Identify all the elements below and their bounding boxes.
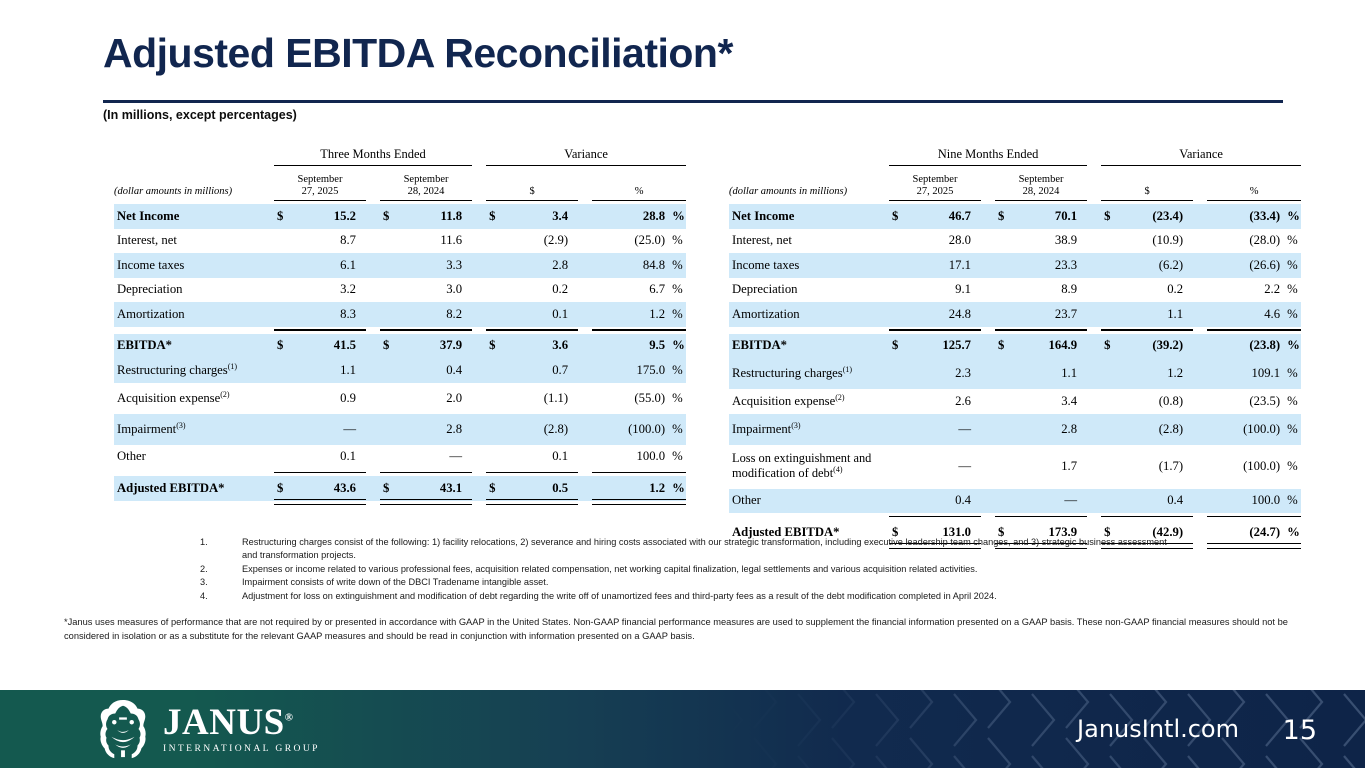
value-prior-period: 2.8 bbox=[1013, 414, 1087, 445]
value-current-period: 43.6 bbox=[292, 476, 366, 501]
three-months-header-group: Three Months Ended Variance (dollar amou… bbox=[114, 146, 686, 204]
spacer bbox=[981, 204, 995, 229]
currency-symbol bbox=[995, 253, 1013, 278]
value-variance-percent: (55.0) bbox=[592, 383, 668, 414]
value-current-period: 8.3 bbox=[292, 302, 366, 327]
value-prior-period: 38.9 bbox=[1013, 229, 1087, 254]
page-number: 15 bbox=[1283, 715, 1317, 746]
spacer bbox=[981, 229, 995, 254]
value-current-period: 2.3 bbox=[907, 358, 981, 389]
value-variance-percent: (100.0) bbox=[1207, 414, 1283, 445]
value-prior-period: 8.9 bbox=[1013, 278, 1087, 303]
percent-symbol: % bbox=[668, 358, 686, 383]
spacer bbox=[981, 334, 995, 359]
value-current-period: — bbox=[907, 414, 981, 445]
spacer bbox=[366, 204, 380, 229]
value-variance-percent: 2.2 bbox=[1207, 278, 1283, 303]
footnote-number: 3. bbox=[200, 576, 242, 589]
currency-symbol: $ bbox=[380, 204, 398, 229]
value-variance-percent: 6.7 bbox=[592, 278, 668, 303]
currency-symbol bbox=[1101, 229, 1119, 254]
spacer bbox=[981, 489, 995, 514]
spacer bbox=[366, 334, 380, 359]
group-header-row: Nine Months Ended Variance bbox=[729, 146, 1301, 162]
footnote-number: 2. bbox=[200, 563, 242, 576]
percent-symbol: % bbox=[668, 229, 686, 254]
subtotal-rule-row bbox=[114, 469, 686, 476]
percent-symbol: % bbox=[1283, 253, 1301, 278]
value-variance-percent: (100.0) bbox=[592, 414, 668, 445]
value-variance-dollar: 0.4 bbox=[1119, 489, 1193, 514]
spacer bbox=[578, 302, 592, 327]
percent-symbol: % bbox=[1283, 278, 1301, 303]
row-label: EBITDA* bbox=[729, 334, 889, 359]
value-prior-period: 164.9 bbox=[1013, 334, 1087, 359]
currency-symbol bbox=[1101, 489, 1119, 514]
logo-registered-mark: ® bbox=[285, 712, 294, 724]
spacer bbox=[366, 358, 380, 383]
currency-symbol bbox=[889, 489, 907, 514]
spacer bbox=[1087, 278, 1101, 303]
value-current-period: 0.1 bbox=[292, 445, 366, 470]
currency-symbol bbox=[995, 229, 1013, 254]
spacer bbox=[1193, 204, 1207, 229]
percent-symbol: % bbox=[1283, 520, 1301, 545]
group-header-rule-row bbox=[114, 162, 686, 169]
currency-symbol bbox=[380, 229, 398, 254]
currency-symbol bbox=[889, 445, 907, 489]
footnote-item: 3.Impairment consists of write down of t… bbox=[200, 576, 1180, 589]
footnote-item: 4.Adjustment for loss on extinguishment … bbox=[200, 590, 1180, 603]
value-variance-dollar: (1.7) bbox=[1119, 445, 1193, 489]
value-current-period: 3.2 bbox=[292, 278, 366, 303]
table-row: Depreciation3.23.00.26.7% bbox=[114, 278, 686, 303]
row-label: Net Income bbox=[114, 204, 274, 229]
value-prior-period: 8.2 bbox=[398, 302, 472, 327]
row-label: Adjusted EBITDA* bbox=[114, 476, 274, 501]
currency-symbol bbox=[889, 389, 907, 414]
col2-line2: 28, 2024 bbox=[408, 186, 445, 197]
col1-line2: 27, 2025 bbox=[302, 186, 339, 197]
spacer bbox=[578, 204, 592, 229]
value-prior-period: — bbox=[1013, 489, 1087, 514]
currency-symbol bbox=[995, 389, 1013, 414]
currency-symbol bbox=[889, 253, 907, 278]
logo-name-text: JANUS bbox=[163, 702, 285, 743]
value-current-period: 28.0 bbox=[907, 229, 981, 254]
currency-symbol bbox=[1101, 302, 1119, 327]
spacer bbox=[1087, 445, 1101, 489]
currency-symbol bbox=[380, 278, 398, 303]
currency-symbol bbox=[995, 445, 1013, 489]
currency-symbol bbox=[380, 383, 398, 414]
currency-symbol bbox=[380, 302, 398, 327]
value-prior-period: 2.0 bbox=[398, 383, 472, 414]
spacer bbox=[366, 253, 380, 278]
spacer bbox=[578, 334, 592, 359]
spacer bbox=[981, 445, 995, 489]
currency-symbol bbox=[274, 445, 292, 470]
value-current-period: 17.1 bbox=[907, 253, 981, 278]
value-current-period: 9.1 bbox=[907, 278, 981, 303]
currency-symbol: $ bbox=[1101, 204, 1119, 229]
spacer bbox=[1193, 389, 1207, 414]
value-variance-percent: (100.0) bbox=[1207, 445, 1283, 489]
subtotal-rule-row bbox=[729, 513, 1301, 520]
currency-symbol bbox=[380, 253, 398, 278]
currency-symbol bbox=[1101, 389, 1119, 414]
table-row: Loss on extinguishment and modification … bbox=[729, 445, 1301, 489]
value-variance-dollar: 1.1 bbox=[1119, 302, 1193, 327]
row-label: Interest, net bbox=[114, 229, 274, 254]
table-row: EBITDA*$41.5$37.9$3.69.5% bbox=[114, 334, 686, 359]
currency-symbol bbox=[380, 414, 398, 445]
spacer bbox=[366, 302, 380, 327]
value-prior-period: 43.1 bbox=[398, 476, 472, 501]
footnote-item: 2.Expenses or income related to various … bbox=[200, 563, 1180, 576]
table-row: Adjusted EBITDA*$43.6$43.1$0.51.2% bbox=[114, 476, 686, 501]
value-variance-dollar: 2.8 bbox=[504, 253, 578, 278]
row-label: Acquisition expense(2) bbox=[114, 383, 274, 414]
column-header-variance-percent: % bbox=[1207, 169, 1301, 197]
spacer bbox=[366, 229, 380, 254]
label-column-header: (dollar amounts in millions) bbox=[729, 169, 889, 197]
spacer bbox=[1193, 520, 1207, 545]
value-prior-period: 3.4 bbox=[1013, 389, 1087, 414]
value-prior-period: 2.8 bbox=[398, 414, 472, 445]
value-variance-dollar: 1.2 bbox=[1119, 358, 1193, 389]
table-row: Depreciation9.18.90.22.2% bbox=[729, 278, 1301, 303]
spacer bbox=[1087, 229, 1101, 254]
currency-symbol bbox=[889, 358, 907, 389]
currency-symbol bbox=[889, 278, 907, 303]
currency-symbol bbox=[995, 358, 1013, 389]
footnote-text: Expenses or income related to various pr… bbox=[242, 563, 1180, 576]
row-label: Depreciation bbox=[114, 278, 274, 303]
currency-symbol bbox=[274, 253, 292, 278]
value-variance-dollar: 0.5 bbox=[504, 476, 578, 501]
spacer bbox=[472, 204, 486, 229]
table-row: Amortization8.38.20.11.2% bbox=[114, 302, 686, 327]
spacer bbox=[472, 414, 486, 445]
row-label: Depreciation bbox=[729, 278, 889, 303]
currency-symbol: $ bbox=[1101, 334, 1119, 359]
table-row: Other0.4—0.4100.0% bbox=[729, 489, 1301, 514]
value-variance-percent: (26.6) bbox=[1207, 253, 1283, 278]
spacer bbox=[1193, 302, 1207, 327]
spacer bbox=[1193, 334, 1207, 359]
percent-symbol: % bbox=[668, 383, 686, 414]
value-variance-dollar: (2.9) bbox=[504, 229, 578, 254]
row-label: Income taxes bbox=[114, 253, 274, 278]
value-current-period: 0.4 bbox=[907, 489, 981, 514]
value-variance-percent: (23.5) bbox=[1207, 389, 1283, 414]
row-label: Restructuring charges(1) bbox=[729, 358, 889, 389]
column-header-variance-dollar: $ bbox=[1101, 169, 1193, 197]
column-header-row: (dollar amounts in millions) September 2… bbox=[114, 169, 686, 197]
footnote-text: Restructuring charges consist of the fol… bbox=[242, 536, 1180, 562]
spacer bbox=[1193, 229, 1207, 254]
column-header-rule-row bbox=[729, 197, 1301, 204]
row-label: Restructuring charges(1) bbox=[114, 358, 274, 383]
currency-symbol: $ bbox=[889, 204, 907, 229]
column-header-rule-row bbox=[114, 197, 686, 204]
value-variance-percent: 109.1 bbox=[1207, 358, 1283, 389]
row-label: Impairment(3) bbox=[114, 414, 274, 445]
col2-line2: 28, 2024 bbox=[1023, 186, 1060, 197]
janus-head-icon bbox=[92, 698, 154, 760]
currency-symbol: $ bbox=[995, 204, 1013, 229]
spacer bbox=[472, 383, 486, 414]
value-variance-dollar: 0.1 bbox=[504, 445, 578, 470]
row-label: Loss on extinguishment and modification … bbox=[729, 445, 889, 489]
currency-symbol bbox=[274, 414, 292, 445]
column-header-period-1: September 27, 2025 bbox=[274, 169, 366, 197]
value-variance-dollar: (1.1) bbox=[504, 383, 578, 414]
value-variance-percent: 28.8 bbox=[592, 204, 668, 229]
col1-line2: 27, 2025 bbox=[917, 186, 954, 197]
spacer bbox=[578, 445, 592, 470]
table-row: EBITDA*$125.7$164.9$(39.2)(23.8)% bbox=[729, 334, 1301, 359]
column-header-period-2: September 28, 2024 bbox=[995, 169, 1087, 197]
spacer bbox=[472, 445, 486, 470]
value-variance-percent: 1.2 bbox=[592, 476, 668, 501]
currency-symbol bbox=[995, 414, 1013, 445]
currency-symbol bbox=[486, 358, 504, 383]
row-label: Impairment(3) bbox=[729, 414, 889, 445]
spacer bbox=[578, 476, 592, 501]
column-header-period-1: September 27, 2025 bbox=[889, 169, 981, 197]
percent-symbol: % bbox=[668, 278, 686, 303]
currency-symbol: $ bbox=[889, 334, 907, 359]
currency-symbol bbox=[380, 358, 398, 383]
spacer bbox=[472, 358, 486, 383]
logo-name: JANUS® bbox=[163, 704, 320, 741]
value-prior-period: 23.3 bbox=[1013, 253, 1087, 278]
spacer bbox=[578, 229, 592, 254]
value-variance-percent: 175.0 bbox=[592, 358, 668, 383]
currency-symbol bbox=[274, 358, 292, 383]
value-current-period: 46.7 bbox=[907, 204, 981, 229]
value-current-period: 1.1 bbox=[292, 358, 366, 383]
table-row: Interest, net8.711.6(2.9)(25.0)% bbox=[114, 229, 686, 254]
footnote-text: Impairment consists of write down of the… bbox=[242, 576, 1180, 589]
percent-symbol: % bbox=[668, 445, 686, 470]
spacer bbox=[1087, 204, 1101, 229]
table-row: Restructuring charges(1)2.31.11.2109.1% bbox=[729, 358, 1301, 389]
spacer bbox=[1087, 253, 1101, 278]
spacer bbox=[472, 253, 486, 278]
percent-symbol: % bbox=[668, 253, 686, 278]
value-prior-period: 3.3 bbox=[398, 253, 472, 278]
value-variance-dollar: 0.1 bbox=[504, 302, 578, 327]
spacer bbox=[472, 476, 486, 501]
value-current-period: 2.6 bbox=[907, 389, 981, 414]
column-header-row: (dollar amounts in millions) September 2… bbox=[729, 169, 1301, 197]
percent-symbol: % bbox=[668, 414, 686, 445]
spacer bbox=[366, 445, 380, 470]
percent-symbol: % bbox=[1283, 204, 1301, 229]
value-variance-percent: (28.0) bbox=[1207, 229, 1283, 254]
percent-symbol: % bbox=[668, 334, 686, 359]
value-variance-dollar: (2.8) bbox=[1119, 414, 1193, 445]
spacer bbox=[1193, 445, 1207, 489]
spacer bbox=[1193, 414, 1207, 445]
currency-symbol bbox=[889, 302, 907, 327]
table-row: Net Income$15.2$11.8$3.428.8% bbox=[114, 204, 686, 229]
currency-symbol: $ bbox=[486, 476, 504, 501]
spacer bbox=[578, 253, 592, 278]
currency-symbol bbox=[1101, 253, 1119, 278]
currency-symbol bbox=[486, 383, 504, 414]
currency-symbol bbox=[995, 489, 1013, 514]
value-variance-percent: 1.2 bbox=[592, 302, 668, 327]
footnotes-list: 1.Restructuring charges consist of the f… bbox=[200, 536, 1180, 603]
currency-symbol bbox=[486, 302, 504, 327]
value-current-period: 24.8 bbox=[907, 302, 981, 327]
percent-symbol: % bbox=[1283, 445, 1301, 489]
value-variance-dollar: (2.8) bbox=[504, 414, 578, 445]
row-label: Acquisition expense(2) bbox=[729, 389, 889, 414]
row-label: Net Income bbox=[729, 204, 889, 229]
nine-months-table: Nine Months Ended Variance (dollar amoun… bbox=[729, 146, 1274, 545]
value-variance-dollar: 0.7 bbox=[504, 358, 578, 383]
three-months-table: Three Months Ended Variance (dollar amou… bbox=[114, 146, 636, 501]
value-variance-percent: 84.8 bbox=[592, 253, 668, 278]
spacer bbox=[1193, 489, 1207, 514]
currency-symbol bbox=[995, 278, 1013, 303]
value-prior-period: 11.8 bbox=[398, 204, 472, 229]
percent-symbol: % bbox=[1283, 389, 1301, 414]
currency-symbol bbox=[889, 229, 907, 254]
value-variance-percent: 4.6 bbox=[1207, 302, 1283, 327]
currency-symbol: $ bbox=[274, 334, 292, 359]
value-prior-period: 70.1 bbox=[1013, 204, 1087, 229]
value-variance-percent: 100.0 bbox=[1207, 489, 1283, 514]
spacer bbox=[472, 229, 486, 254]
value-variance-dollar: (39.2) bbox=[1119, 334, 1193, 359]
spacer bbox=[366, 414, 380, 445]
spacer bbox=[578, 358, 592, 383]
table-row: Restructuring charges(1)1.10.40.7175.0% bbox=[114, 358, 686, 383]
currency-symbol: $ bbox=[486, 334, 504, 359]
currency-symbol bbox=[274, 383, 292, 414]
label-column-header: (dollar amounts in millions) bbox=[114, 169, 274, 197]
slide-footer: JANUS® INTERNATIONAL GROUP JanusIntl.com… bbox=[0, 690, 1365, 768]
percent-symbol: % bbox=[1283, 302, 1301, 327]
spacer bbox=[1087, 414, 1101, 445]
currency-symbol bbox=[1101, 445, 1119, 489]
percent-symbol: % bbox=[1283, 414, 1301, 445]
nine-months-header-group: Nine Months Ended Variance (dollar amoun… bbox=[729, 146, 1301, 204]
table-row: Amortization24.823.71.14.6% bbox=[729, 302, 1301, 327]
footer-website-link[interactable]: JanusIntl.com bbox=[1077, 715, 1239, 743]
spacer bbox=[366, 278, 380, 303]
value-variance-percent: (24.7) bbox=[1207, 520, 1283, 545]
spacer bbox=[472, 334, 486, 359]
row-label: Interest, net bbox=[729, 229, 889, 254]
currency-symbol bbox=[1101, 414, 1119, 445]
value-variance-dollar: (0.8) bbox=[1119, 389, 1193, 414]
col1-line1: September bbox=[913, 174, 958, 185]
spacer bbox=[472, 302, 486, 327]
footnote-item: 1.Restructuring charges consist of the f… bbox=[200, 536, 1180, 562]
value-variance-percent: 9.5 bbox=[592, 334, 668, 359]
percent-symbol: % bbox=[668, 302, 686, 327]
spacer bbox=[1087, 489, 1101, 514]
value-prior-period: 1.1 bbox=[1013, 358, 1087, 389]
spacer bbox=[1193, 358, 1207, 389]
value-prior-period: 1.7 bbox=[1013, 445, 1087, 489]
row-label: Other bbox=[114, 445, 274, 470]
value-prior-period: — bbox=[398, 445, 472, 470]
currency-symbol bbox=[1101, 278, 1119, 303]
subtotal-rule-row bbox=[729, 327, 1301, 334]
percent-symbol: % bbox=[1283, 229, 1301, 254]
percent-symbol: % bbox=[1283, 334, 1301, 359]
group-header-period: Nine Months Ended bbox=[889, 146, 1087, 162]
value-prior-period: 23.7 bbox=[1013, 302, 1087, 327]
table-row: Impairment(3)—2.8(2.8)(100.0)% bbox=[729, 414, 1301, 445]
value-prior-period: 0.4 bbox=[398, 358, 472, 383]
group-header-rule-row bbox=[729, 162, 1301, 169]
table-row: Income taxes17.123.3(6.2)(26.6)% bbox=[729, 253, 1301, 278]
value-current-period: 41.5 bbox=[292, 334, 366, 359]
spacer bbox=[981, 253, 995, 278]
three-months-body: Net Income$15.2$11.8$3.428.8%Interest, n… bbox=[114, 204, 686, 501]
spacer bbox=[366, 476, 380, 501]
row-label: Other bbox=[729, 489, 889, 514]
table-row: Other0.1—0.1100.0% bbox=[114, 445, 686, 470]
currency-symbol: $ bbox=[274, 204, 292, 229]
page-subtitle: (In millions, except percentages) bbox=[103, 108, 297, 122]
currency-symbol bbox=[274, 302, 292, 327]
table-row: Income taxes6.13.32.884.8% bbox=[114, 253, 686, 278]
value-current-period: 6.1 bbox=[292, 253, 366, 278]
gaap-disclaimer: *Janus uses measures of performance that… bbox=[64, 615, 1314, 644]
spacer bbox=[578, 383, 592, 414]
value-prior-period: 37.9 bbox=[398, 334, 472, 359]
value-current-period: 125.7 bbox=[907, 334, 981, 359]
row-label: EBITDA* bbox=[114, 334, 274, 359]
spacer bbox=[366, 383, 380, 414]
nine-months-body: Net Income$46.7$70.1$(23.4)(33.4)%Intere… bbox=[729, 204, 1301, 545]
currency-symbol: $ bbox=[995, 334, 1013, 359]
spacer bbox=[472, 278, 486, 303]
currency-symbol bbox=[486, 229, 504, 254]
column-header-variance-dollar: $ bbox=[486, 169, 578, 197]
spacer bbox=[981, 358, 995, 389]
table-row: Interest, net28.038.9(10.9)(28.0)% bbox=[729, 229, 1301, 254]
row-label: Income taxes bbox=[729, 253, 889, 278]
spacer bbox=[578, 278, 592, 303]
spacer bbox=[1087, 334, 1101, 359]
footnote-text: Adjustment for loss on extinguishment an… bbox=[242, 590, 1180, 603]
percent-symbol: % bbox=[1283, 358, 1301, 389]
value-current-period: 0.9 bbox=[292, 383, 366, 414]
value-variance-percent: (33.4) bbox=[1207, 204, 1283, 229]
currency-symbol bbox=[486, 414, 504, 445]
group-header-variance: Variance bbox=[486, 146, 686, 162]
currency-symbol: $ bbox=[380, 476, 398, 501]
subtotal-rule-row bbox=[114, 327, 686, 334]
percent-symbol: % bbox=[668, 476, 686, 501]
value-current-period: 8.7 bbox=[292, 229, 366, 254]
column-header-variance-percent: % bbox=[592, 169, 686, 197]
spacer bbox=[1193, 253, 1207, 278]
spacer bbox=[1087, 389, 1101, 414]
value-variance-dollar: 0.2 bbox=[1119, 278, 1193, 303]
